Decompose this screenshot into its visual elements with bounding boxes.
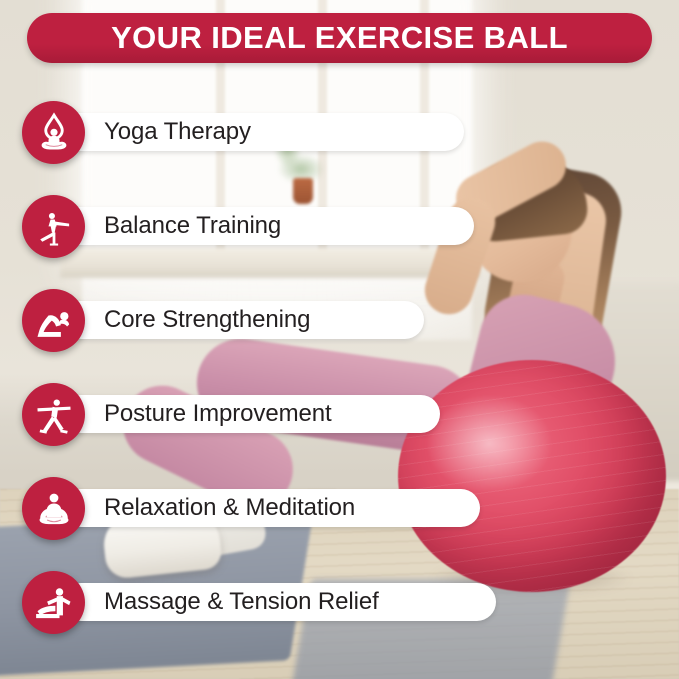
feature-row: Yoga Therapy — [0, 95, 679, 189]
product-infographic: YOUR IDEAL EXERCISE BALL Yoga Therapy — [0, 0, 679, 679]
crunch-situp-icon — [22, 289, 85, 352]
feature-row: Massage & Tension Relief — [0, 565, 679, 659]
feature-label-pill: Yoga Therapy — [62, 113, 464, 151]
feature-label: Core Strengthening — [104, 306, 310, 334]
feature-row: Posture Improvement — [0, 377, 679, 471]
feature-label-pill: Posture Improvement — [62, 395, 440, 433]
feature-label: Balance Training — [104, 212, 281, 240]
feature-row: Balance Training — [0, 189, 679, 283]
feature-label: Posture Improvement — [104, 400, 332, 428]
yoga-tree-pose-icon — [22, 195, 85, 258]
feature-label: Massage & Tension Relief — [104, 588, 379, 616]
header-banner: YOUR IDEAL EXERCISE BALL — [27, 13, 652, 63]
feature-list: Yoga Therapy Balance Training — [0, 95, 679, 659]
banner-title: YOUR IDEAL EXERCISE BALL — [111, 20, 568, 56]
feature-row: Core Strengthening — [0, 283, 679, 377]
feature-label: Relaxation & Meditation — [104, 494, 355, 522]
feature-label: Yoga Therapy — [104, 118, 251, 146]
feature-label-pill: Massage & Tension Relief — [62, 583, 496, 621]
feature-label-pill: Balance Training — [62, 207, 474, 245]
feature-label-pill: Core Strengthening — [62, 301, 424, 339]
feature-row: Relaxation & Meditation — [0, 471, 679, 565]
massage-therapy-icon — [22, 571, 85, 634]
meditation-lotus-icon — [22, 477, 85, 540]
yoga-lotus-arms-up-icon — [22, 101, 85, 164]
warrior-pose-icon — [22, 383, 85, 446]
feature-label-pill: Relaxation & Meditation — [62, 489, 480, 527]
